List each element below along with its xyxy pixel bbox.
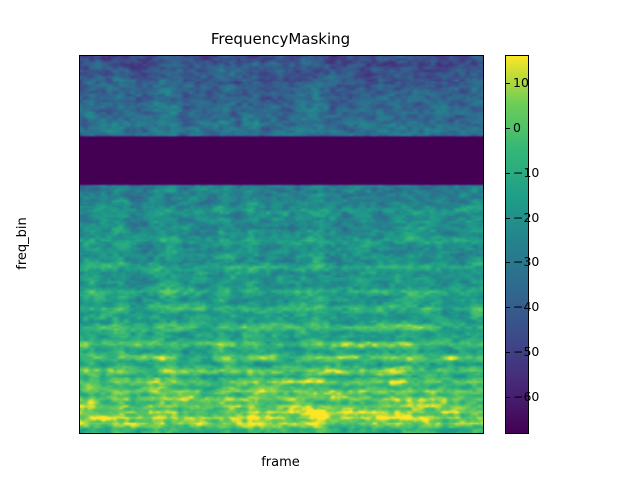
colorbar-tick-label: −20 — [513, 212, 539, 224]
x-tick-mark — [80, 433, 81, 434]
colorbar-tick-mark — [506, 352, 510, 353]
spectrogram-axes: 0255075100125150175200 050100150200250 — [79, 55, 484, 434]
colorbar: 100−10−20−30−40−50−60 — [505, 55, 529, 434]
matplotlib-figure: FrequencyMasking 0255075100125150175200 … — [0, 0, 640, 480]
colorbar-tick-mark — [506, 83, 510, 84]
colorbar-tick-label: −60 — [513, 391, 539, 403]
colorbar-tick-mark — [506, 173, 510, 174]
colorbar-tick-mark — [506, 307, 510, 308]
colorbar-tick-label: −10 — [513, 167, 539, 179]
y-axis-label: freq_bin — [14, 55, 30, 432]
colorbar-tick-label: −50 — [513, 346, 539, 358]
colorbar-tick-label: −30 — [513, 256, 539, 268]
spectrogram-image — [80, 56, 483, 433]
x-tick-mark — [227, 433, 228, 434]
colorbar-tick-mark — [506, 128, 510, 129]
colorbar-tick-label: −40 — [513, 301, 539, 313]
colorbar-tick-mark — [506, 218, 510, 219]
colorbar-tick-label: 0 — [513, 122, 521, 134]
page-title: FrequencyMasking — [79, 30, 482, 48]
x-tick-mark — [373, 433, 374, 434]
y-axis-label-text: freq_bin — [15, 217, 30, 270]
colorbar-tick-label: 10 — [513, 77, 529, 89]
x-axis-label: frame — [79, 455, 482, 470]
colorbar-tick-mark — [506, 262, 510, 263]
x-tick-mark — [300, 433, 301, 434]
x-tick-mark — [153, 433, 154, 434]
colorbar-tick-mark — [506, 397, 510, 398]
x-tick-mark — [446, 433, 447, 434]
colorbar-gradient — [506, 56, 528, 433]
